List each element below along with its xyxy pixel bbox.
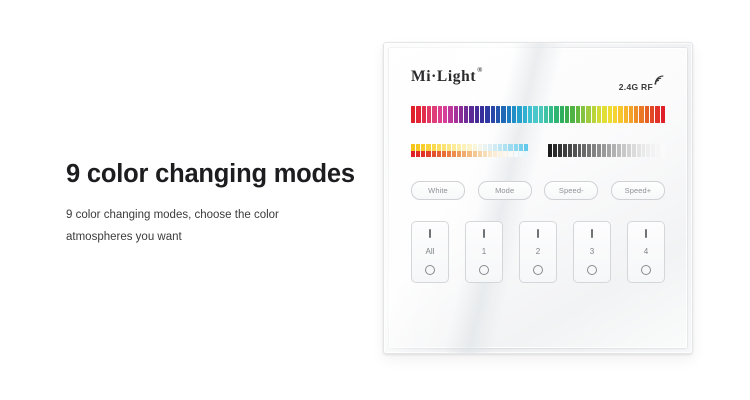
- hue-segment[interactable]: [544, 106, 548, 123]
- hue-segment[interactable]: [475, 106, 479, 123]
- color-temperature-segment[interactable]: [514, 144, 518, 157]
- segment-bottom: [457, 151, 461, 158]
- zone-label: 1: [482, 248, 486, 256]
- power-on-icon[interactable]: [591, 229, 593, 238]
- hue-segment[interactable]: [613, 106, 617, 123]
- hue-segment[interactable]: [560, 106, 564, 123]
- hue-segment[interactable]: [608, 106, 612, 123]
- zone-3[interactable]: 3: [573, 221, 611, 283]
- power-off-icon[interactable]: [533, 265, 543, 275]
- white-button[interactable]: White: [411, 181, 465, 200]
- panel-glass-frame: Mi·Light® 2.4G RF: [383, 42, 693, 354]
- color-temperature-bar-wrap: [411, 144, 528, 157]
- color-temperature-segment[interactable]: [432, 144, 436, 157]
- color-temperature-segment[interactable]: [416, 144, 420, 157]
- hue-segment[interactable]: [438, 106, 442, 123]
- hue-segment[interactable]: [576, 106, 580, 123]
- hue-segment[interactable]: [592, 106, 596, 123]
- color-temperature-segment[interactable]: [493, 144, 497, 157]
- mode-button[interactable]: Mode: [478, 181, 532, 200]
- color-temperature-segment[interactable]: [421, 144, 425, 157]
- wifi-signal-icon: [654, 72, 665, 90]
- brightness-segment[interactable]: [587, 144, 591, 157]
- brightness-segment[interactable]: [553, 144, 557, 157]
- registered-trademark-icon: ®: [477, 66, 483, 74]
- hue-segment[interactable]: [618, 106, 622, 123]
- hue-segment[interactable]: [661, 106, 665, 123]
- secondary-bars-row: [411, 144, 665, 157]
- rf-label: 2.4G RF: [619, 83, 653, 92]
- segment-bottom: [514, 151, 518, 158]
- segment-bottom: [426, 151, 430, 158]
- zone-label: 4: [644, 248, 648, 256]
- power-off-icon[interactable]: [425, 265, 435, 275]
- hue-segment[interactable]: [639, 106, 643, 123]
- hue-segment[interactable]: [528, 106, 532, 123]
- segment-bottom: [437, 151, 441, 158]
- segment-bottom: [508, 151, 512, 158]
- color-temperature-segment[interactable]: [498, 144, 502, 157]
- color-temperature-segment[interactable]: [426, 144, 430, 157]
- brightness-segment[interactable]: [651, 144, 655, 157]
- segment-bottom: [416, 151, 420, 158]
- segment-bottom: [442, 151, 446, 158]
- color-temperature-segment[interactable]: [519, 144, 523, 157]
- hue-segment[interactable]: [655, 106, 659, 123]
- hue-segment[interactable]: [629, 106, 633, 123]
- hue-segment[interactable]: [464, 106, 468, 123]
- button-label: Speed-: [559, 187, 584, 195]
- segment-bottom: [478, 151, 482, 158]
- brightness-segment[interactable]: [597, 144, 601, 157]
- power-on-icon[interactable]: [483, 229, 485, 238]
- hue-segment[interactable]: [517, 106, 521, 123]
- segment-bottom: [447, 151, 451, 158]
- function-button-row: WhiteModeSpeed-Speed+: [411, 181, 665, 200]
- color-temperature-segment[interactable]: [437, 144, 441, 157]
- zone-2[interactable]: 2: [519, 221, 557, 283]
- segment-bottom: [519, 151, 523, 158]
- hue-segment[interactable]: [443, 106, 447, 123]
- zone-label: 3: [590, 248, 594, 256]
- brightness-segment[interactable]: [582, 144, 586, 157]
- page-subtitle: 9 color changing modes, choose the color…: [66, 204, 296, 249]
- button-label: White: [428, 187, 448, 195]
- hue-segment[interactable]: [549, 106, 553, 123]
- segment-bottom: [467, 151, 471, 158]
- hue-segment[interactable]: [427, 106, 431, 123]
- hue-segment[interactable]: [539, 106, 543, 123]
- hue-segment[interactable]: [448, 106, 452, 123]
- power-off-icon[interactable]: [641, 265, 651, 275]
- brightness-segment[interactable]: [612, 144, 616, 157]
- hue-segment[interactable]: [454, 106, 458, 123]
- color-temperature-segment[interactable]: [483, 144, 487, 157]
- hue-segment[interactable]: [523, 106, 527, 123]
- zone-button-row: All1234: [411, 221, 665, 283]
- segment-bottom: [473, 151, 477, 158]
- color-temperature-segment[interactable]: [411, 144, 415, 157]
- segment-bottom: [421, 151, 425, 158]
- speed-up-button[interactable]: Speed+: [611, 181, 665, 200]
- segment-bottom: [488, 151, 492, 158]
- brightness-segment[interactable]: [637, 144, 641, 157]
- hue-segment[interactable]: [533, 106, 537, 123]
- hue-segment[interactable]: [507, 106, 511, 123]
- hue-segment[interactable]: [554, 106, 558, 123]
- page-title: 9 color changing modes: [66, 160, 366, 188]
- brightness-segment[interactable]: [627, 144, 631, 157]
- hue-segment[interactable]: [416, 106, 420, 123]
- brightness-segment[interactable]: [602, 144, 606, 157]
- color-temperature-segment[interactable]: [478, 144, 482, 157]
- brightness-segment[interactable]: [548, 144, 552, 157]
- segment-bottom: [483, 151, 487, 158]
- brightness-segment[interactable]: [642, 144, 646, 157]
- hue-segment[interactable]: [624, 106, 628, 123]
- brightness-bar-wrap: [548, 144, 665, 157]
- hue-segment[interactable]: [565, 106, 569, 123]
- hue-segment[interactable]: [432, 106, 436, 123]
- segment-bottom: [432, 151, 436, 158]
- hue-segment[interactable]: [422, 106, 426, 123]
- segment-bottom: [503, 151, 507, 158]
- brightness-segment[interactable]: [607, 144, 611, 157]
- segment-bottom: [452, 151, 456, 158]
- color-temperature-segment[interactable]: [503, 144, 507, 157]
- color-temperature-segment[interactable]: [447, 144, 451, 157]
- zone-4[interactable]: 4: [627, 221, 665, 283]
- hue-segment[interactable]: [634, 106, 638, 123]
- marketing-copy-block: 9 color changing modes 9 color changing …: [66, 160, 366, 249]
- segment-bottom: [498, 151, 502, 158]
- power-off-icon[interactable]: [587, 265, 597, 275]
- panel-header-row: Mi·Light® 2.4G RF: [411, 68, 665, 88]
- zone-all[interactable]: All: [411, 221, 449, 283]
- brightness-segment[interactable]: [661, 144, 665, 157]
- brightness-touch-bar[interactable]: [548, 144, 665, 157]
- hue-segment[interactable]: [512, 106, 516, 123]
- panel-content: Mi·Light® 2.4G RF: [389, 48, 687, 348]
- brightness-segment[interactable]: [592, 144, 596, 157]
- brightness-segment[interactable]: [622, 144, 626, 157]
- brightness-segment[interactable]: [632, 144, 636, 157]
- segment-bottom: [524, 151, 528, 158]
- hue-segment[interactable]: [597, 106, 601, 123]
- color-temperature-segment[interactable]: [488, 144, 492, 157]
- brightness-segment[interactable]: [573, 144, 577, 157]
- button-label: Mode: [495, 187, 514, 195]
- button-label: Speed+: [625, 187, 652, 195]
- power-on-icon[interactable]: [537, 229, 539, 238]
- brightness-segment[interactable]: [568, 144, 572, 157]
- color-temperature-segment[interactable]: [442, 144, 446, 157]
- zone-label: 2: [536, 248, 540, 256]
- power-on-icon[interactable]: [429, 229, 431, 238]
- power-on-icon[interactable]: [645, 229, 647, 238]
- hue-segment[interactable]: [501, 106, 505, 123]
- hue-bar-row: [411, 106, 665, 123]
- segment-bottom: [462, 151, 466, 158]
- milight-touch-panel: Mi·Light® 2.4G RF: [383, 42, 693, 354]
- hue-segment[interactable]: [469, 106, 473, 123]
- rf-badge: 2.4G RF: [619, 72, 665, 91]
- zone-1[interactable]: 1: [465, 221, 503, 283]
- color-temperature-touch-bar[interactable]: [411, 144, 528, 157]
- hue-segment[interactable]: [491, 106, 495, 123]
- speed-down-button[interactable]: Speed-: [544, 181, 598, 200]
- color-temperature-segment[interactable]: [508, 144, 512, 157]
- color-temperature-segment[interactable]: [467, 144, 471, 157]
- brightness-segment[interactable]: [578, 144, 582, 157]
- hue-segment[interactable]: [570, 106, 574, 123]
- hue-segment[interactable]: [650, 106, 654, 123]
- brand-name-text: Mi·Light: [411, 68, 476, 85]
- segment-bottom: [493, 151, 497, 158]
- hue-segment[interactable]: [602, 106, 606, 123]
- hue-segment[interactable]: [586, 106, 590, 123]
- hue-segment[interactable]: [480, 106, 484, 123]
- brightness-segment[interactable]: [563, 144, 567, 157]
- hue-segment[interactable]: [411, 106, 415, 123]
- hue-segment[interactable]: [645, 106, 649, 123]
- hue-segment[interactable]: [459, 106, 463, 123]
- segment-bottom: [411, 151, 415, 158]
- brightness-segment[interactable]: [656, 144, 660, 157]
- color-temperature-segment[interactable]: [457, 144, 461, 157]
- milight-wordmark-logo: Mi·Light®: [411, 68, 482, 86]
- brightness-segment[interactable]: [617, 144, 621, 157]
- hue-segment[interactable]: [496, 106, 500, 123]
- hue-segment[interactable]: [581, 106, 585, 123]
- color-temperature-segment[interactable]: [473, 144, 477, 157]
- color-temperature-segment[interactable]: [462, 144, 466, 157]
- zone-label: All: [426, 248, 435, 256]
- hue-segment[interactable]: [485, 106, 489, 123]
- color-temperature-segment[interactable]: [524, 144, 528, 157]
- power-off-icon[interactable]: [479, 265, 489, 275]
- color-hue-touch-bar[interactable]: [411, 106, 665, 123]
- color-temperature-segment[interactable]: [452, 144, 456, 157]
- brightness-segment[interactable]: [646, 144, 650, 157]
- brightness-segment[interactable]: [558, 144, 562, 157]
